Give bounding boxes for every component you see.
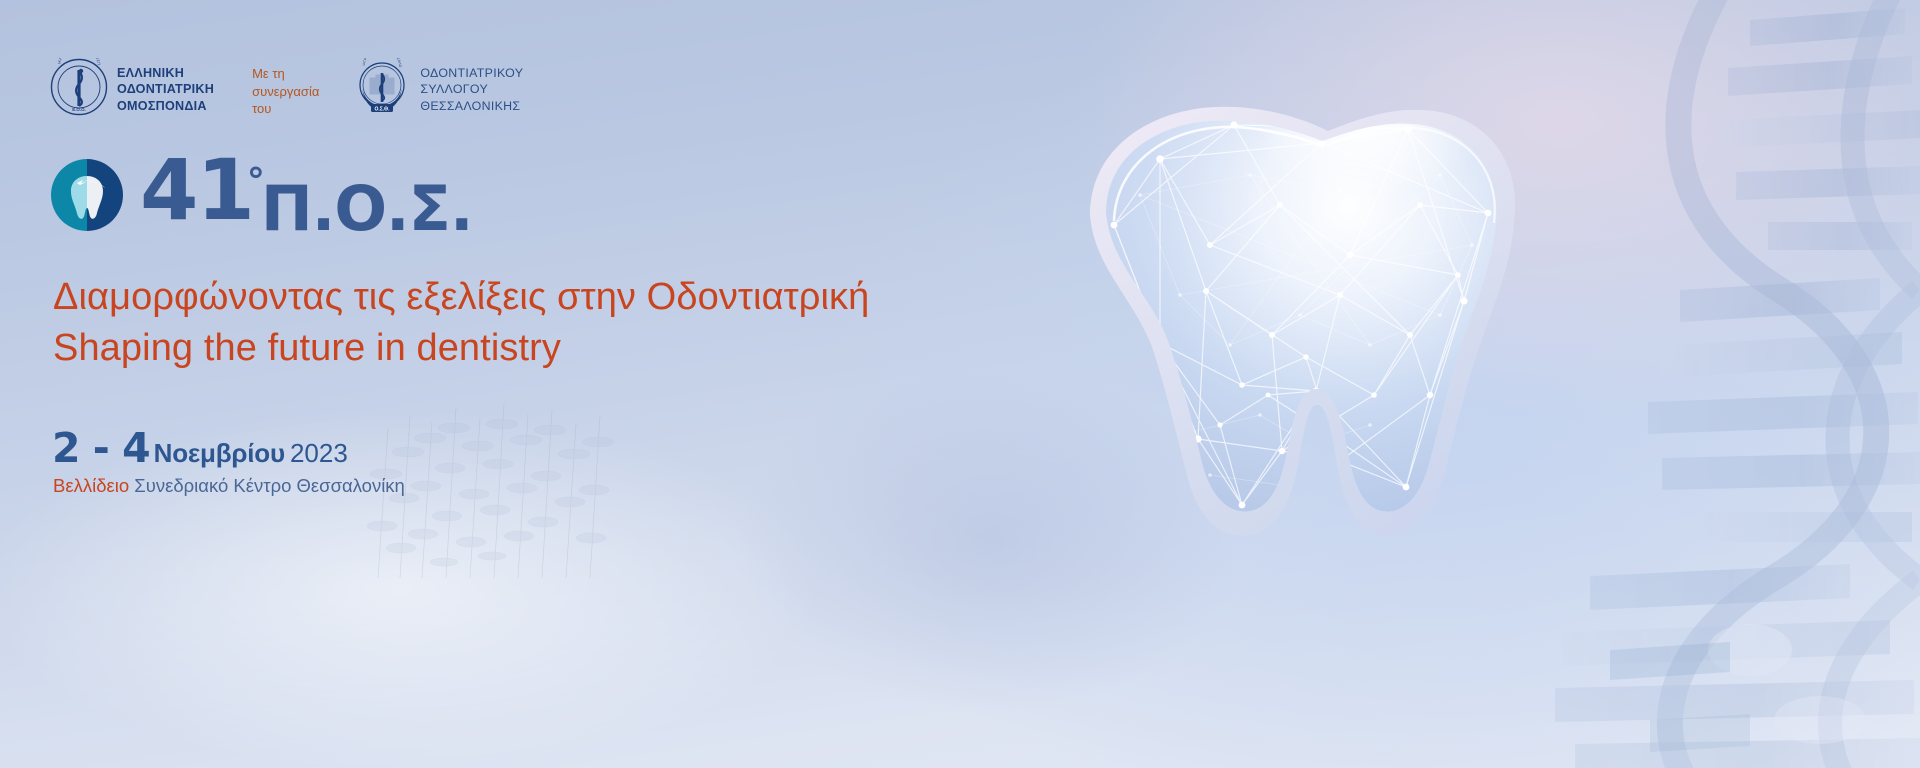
svg-text:ΟΔΟΝΤΙΑΤΡΙΚΟΣ ΣΥΛΛΟΓΟΣ ΘΕΣΣΑΛΟ: ΟΔΟΝΤΙΑΤΡΙΚΟΣ ΣΥΛΛΟΓΟΣ ΘΕΣΣΑΛΟΝΙΚΗΣ — [353, 58, 402, 68]
cooperation-note: Με τη συνεργασία του — [252, 58, 319, 118]
logo-osth-line-1: ΟΔΟΝΤΙΑΤΡΙΚΟΥ — [420, 65, 523, 81]
tagline-greek: Διαμορφώνοντας τις εξελίξεις στην Οδοντι… — [53, 276, 869, 319]
logo-osth-line-2: ΣΥΛΛΟΓΟΥ — [420, 81, 523, 97]
event-year: 2023 — [290, 438, 348, 468]
conference-banner: E.O.O. ΕΛΛΗΝΙΚΗ ΟΔΟΝΤΙΑΤΡΙΚΗ ΟΜΟΣΠΟΝΔΙΑ … — [0, 0, 1920, 768]
title-acronym: Π.Ο.Σ. — [261, 172, 473, 245]
event-days: 2 - 4 — [52, 424, 150, 472]
logo-osth-text: ΟΔΟΝΤΙΑΤΡΙΚΟΥ ΣΥΛΛΟΓΟΥ ΘΕΣΣΑΛΟΝΙΚΗΣ — [420, 58, 523, 114]
partner-logos-row: E.O.O. ΕΛΛΗΝΙΚΗ ΟΔΟΝΤΙΑΤΡΙΚΗ ΟΜΟΣΠΟΝΔΙΑ … — [50, 58, 523, 118]
event-date: 2 - 4Νοεμβρίου2023 — [52, 424, 348, 472]
svg-text:Ο.Σ.Θ.: Ο.Σ.Θ. — [375, 106, 391, 112]
tooth-circle-logo-icon — [50, 158, 124, 232]
eoo-caduceus-seal-icon: E.O.O. ΕΛΛΗΝΙΚΗ ΟΔΟΝΤΙΑΤΡΙΚΗ ΟΜΟΣΠΟΝΔΙΑ — [50, 58, 108, 116]
cooperation-note-line-3: του — [252, 100, 319, 118]
title-number: 41 — [140, 141, 253, 239]
page-title: 41°Π.Ο.Σ. — [50, 156, 473, 234]
cooperation-note-line-2: συνεργασία — [252, 83, 319, 101]
logo-eoo-line-3: ΟΜΟΣΠΟΝΔΙΑ — [117, 98, 214, 114]
venue-name: Βελλίδειο — [53, 475, 129, 496]
polygonal-wireframe-tooth-graphic — [1010, 95, 1530, 555]
logo-eoo-line-1: ΕΛΛΗΝΙΚΗ — [117, 65, 214, 81]
svg-text:E.O.O.: E.O.O. — [72, 107, 85, 112]
venue-description: Συνεδριακό Κέντρο Θεσσαλονίκη — [134, 475, 405, 496]
logo-eoo-text: ΕΛΛΗΝΙΚΗ ΟΔΟΝΤΙΑΤΡΙΚΗ ΟΜΟΣΠΟΝΔΙΑ — [117, 58, 214, 114]
cooperation-note-line-1: Με τη — [252, 65, 319, 83]
logo-eoo-line-2: ΟΔΟΝΤΙΑΤΡΙΚΗ — [117, 81, 214, 97]
event-month: Νοεμβρίου — [154, 438, 285, 468]
logo-eoo[interactable]: E.O.O. ΕΛΛΗΝΙΚΗ ΟΔΟΝΤΙΑΤΡΙΚΗ ΟΜΟΣΠΟΝΔΙΑ … — [50, 58, 214, 116]
event-venue: Βελλίδειο Συνεδριακό Κέντρο Θεσσαλονίκη — [53, 475, 405, 497]
tagline-english: Shaping the future in dentistry — [53, 327, 561, 370]
logo-osth[interactable]: ΟΔΟΝΤΙΑΤΡΙΚΟΣ ΣΥΛΛΟΓΟΣ ΘΕΣΣΑΛΟΝΙΚΗΣ Ο.Σ.… — [353, 58, 523, 116]
logo-osth-line-3: ΘΕΣΣΑΛΟΝΙΚΗΣ — [420, 98, 523, 114]
osth-seal-icon: ΟΔΟΝΤΙΑΤΡΙΚΟΣ ΣΥΛΛΟΓΟΣ ΘΕΣΣΑΛΟΝΙΚΗΣ Ο.Σ.… — [353, 58, 411, 116]
